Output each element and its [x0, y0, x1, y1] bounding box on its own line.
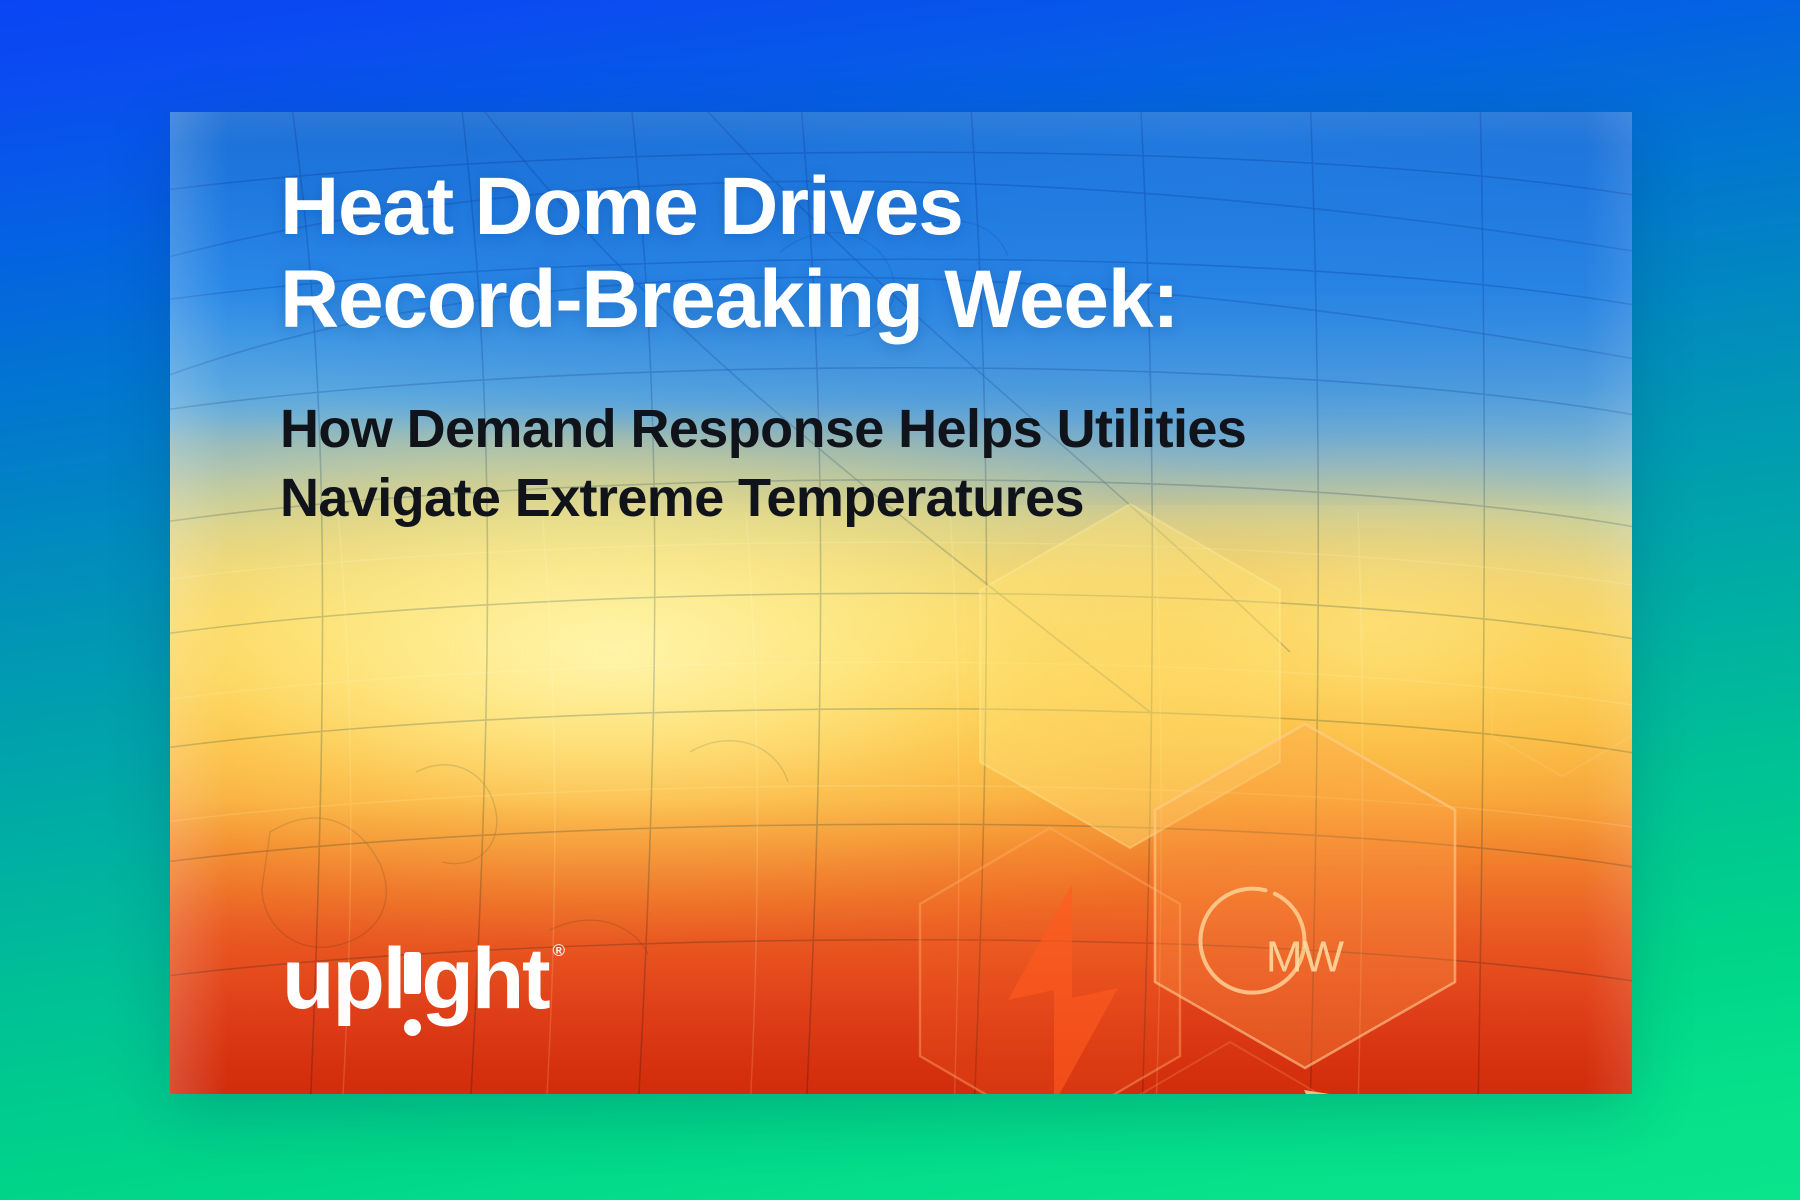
headline-line-2: Record-Breaking Week: [280, 253, 1480, 346]
subhead-line-2: Navigate Extreme Temperatures [280, 464, 1480, 533]
logo-flipped-i-icon [404, 936, 421, 1022]
registered-trademark-icon: ® [552, 942, 565, 959]
uplight-wordmark: uplght [282, 936, 548, 1022]
hero-text-block: Heat Dome Drives Record-Breaking Week: H… [280, 160, 1480, 533]
hero-card: MW Heat Dome Drives Record-Breaking Week… [170, 112, 1632, 1094]
subhead-line-1: How Demand Response Helps Utilities [280, 395, 1480, 464]
logo-i-stem [404, 952, 421, 994]
page-title: Heat Dome Drives Record-Breaking Week: [280, 160, 1480, 347]
logo-word-start: upl [282, 931, 404, 1027]
uplight-logo[interactable]: uplght ® [282, 936, 565, 1022]
page-subtitle: How Demand Response Helps Utilities Navi… [280, 395, 1480, 533]
headline-line-1: Heat Dome Drives [280, 160, 1480, 253]
logo-word-end: ght [421, 931, 548, 1027]
